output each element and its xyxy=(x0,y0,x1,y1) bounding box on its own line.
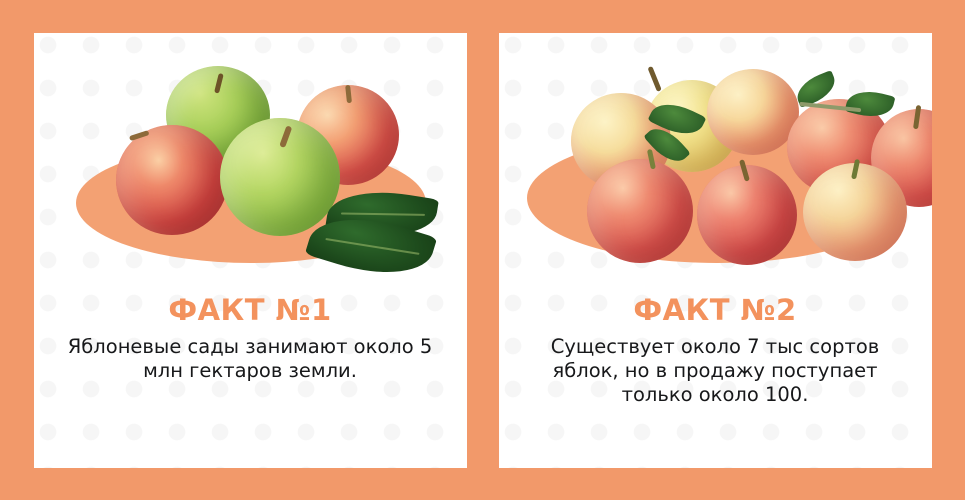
apples-illustration-1 xyxy=(34,33,467,291)
apple-facts-poster: ФАКТ №1 Яблоневые сады занимают около 5 … xyxy=(0,0,965,500)
apple-back-right-striped xyxy=(707,69,799,155)
fact-card-2-captions: ФАКТ №2 Существует около 7 тыс сортов яб… xyxy=(499,295,932,408)
apple-stem-a xyxy=(647,65,661,91)
fact-card-1-captions: ФАКТ №1 Яблоневые сады занимают около 5 … xyxy=(34,295,467,384)
apples-illustration-2 xyxy=(499,33,932,291)
red-apple-left xyxy=(116,125,228,235)
fact-text: Яблоневые сады занимают около 5 млн гект… xyxy=(48,335,453,383)
green-apple-front xyxy=(220,118,340,236)
fact-title: ФАКТ №1 xyxy=(48,295,453,325)
fact-card-1: ФАКТ №1 Яблоневые сады занимают около 5 … xyxy=(34,33,467,468)
fact-card-2: ФАКТ №2 Существует около 7 тыс сортов яб… xyxy=(499,33,932,468)
fact-title: ФАКТ №2 xyxy=(513,295,918,325)
apple-front-left-red xyxy=(587,159,693,263)
fact-text: Существует около 7 тыс сортов яблок, но … xyxy=(513,335,918,408)
